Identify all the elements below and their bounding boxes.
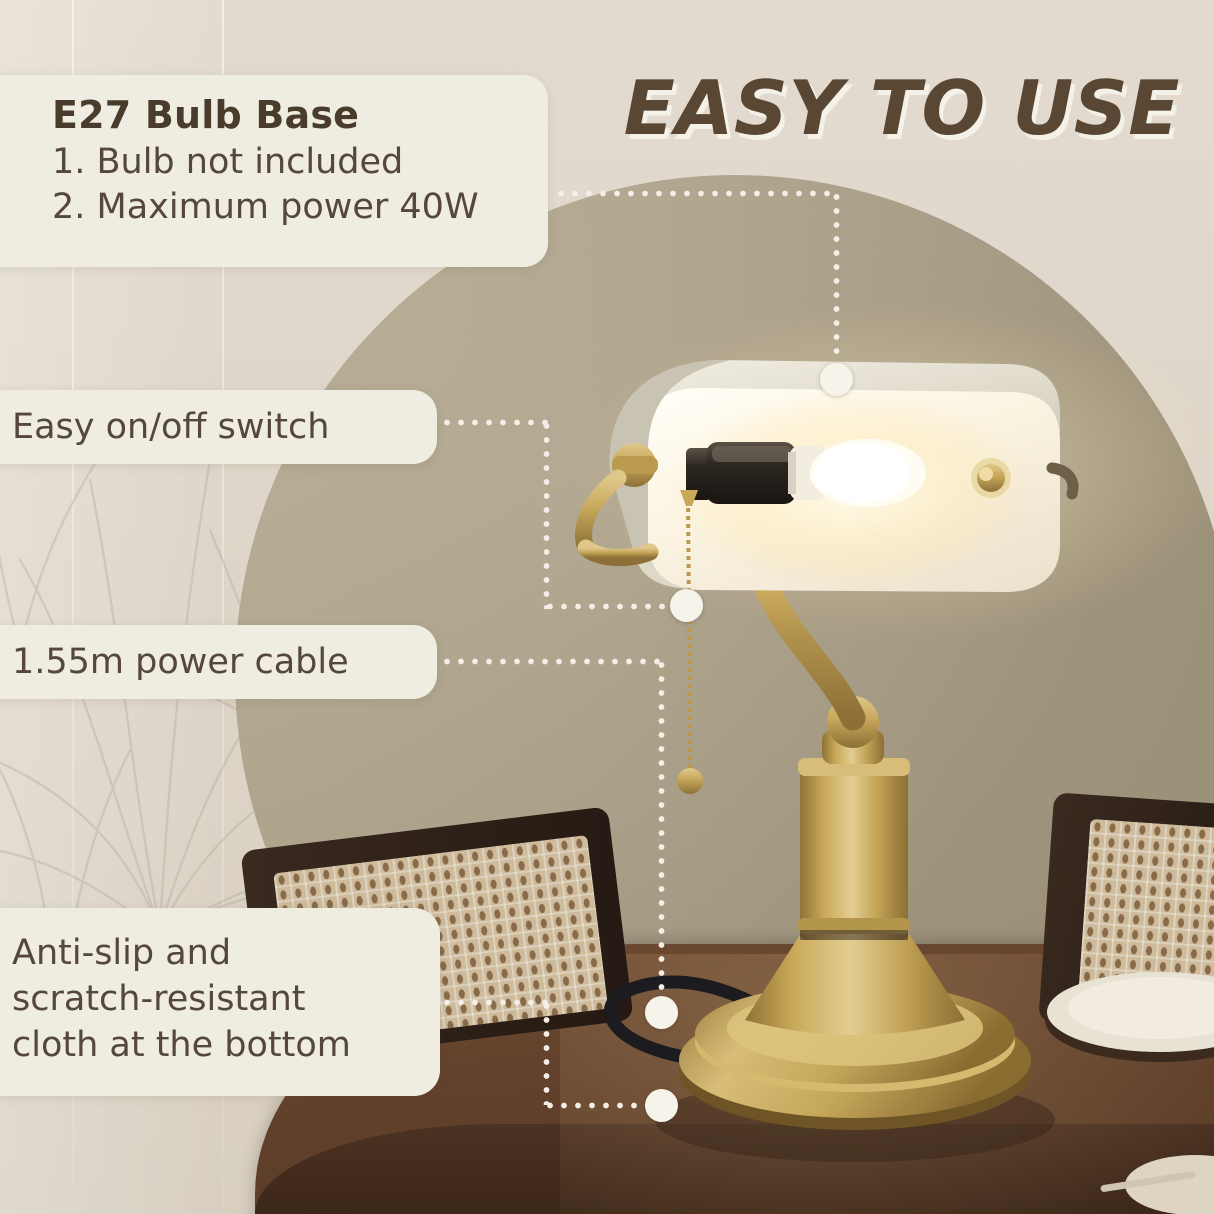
leader-bulb-horizontal	[554, 190, 838, 197]
leader-switch-vertical	[543, 419, 550, 609]
infographic-canvas: E27 Bulb Base 1. Bulb not included 2. Ma…	[0, 0, 1214, 1214]
callout-cable: 1.55m power cable	[0, 625, 437, 699]
connector-dot-icon	[645, 1089, 678, 1122]
leader-switch-horizontal-2	[543, 603, 683, 610]
connector-dot-icon	[645, 996, 678, 1029]
leader-cable-horizontal	[440, 658, 664, 665]
plate-stack	[1040, 950, 1214, 1100]
leader-bulb-vertical	[833, 190, 840, 380]
callout-cable-label: 1.55m power cable	[12, 642, 349, 682]
callout-anti-slip-line2: scratch-resistant	[12, 976, 440, 1022]
callout-switch: Easy on/off switch	[0, 390, 437, 464]
leader-cable-vertical	[658, 658, 665, 1008]
page-title: EASY TO USE	[624, 64, 1180, 152]
callout-bulb-base-title: E27 Bulb Base	[52, 91, 548, 140]
leader-switch-horizontal-1	[440, 419, 550, 426]
callout-anti-slip: Anti-slip and scratch-resistant cloth at…	[0, 908, 440, 1096]
leader-cloth-horizontal-1	[440, 999, 550, 1006]
leader-cloth-vertical	[543, 999, 550, 1105]
connector-dot-icon	[820, 363, 853, 396]
callout-bulb-base-line1: 1. Bulb not included	[52, 140, 548, 186]
callout-bulb-base-line2: 2. Maximum power 40W	[52, 185, 548, 231]
callout-bulb-base: E27 Bulb Base 1. Bulb not included 2. Ma…	[0, 75, 548, 267]
callout-anti-slip-line1: Anti-slip and	[12, 930, 440, 976]
callout-anti-slip-line3: cloth at the bottom	[12, 1022, 440, 1068]
plate-and-knife	[1100, 1140, 1214, 1214]
callout-switch-label: Easy on/off switch	[12, 407, 329, 447]
connector-dot-icon	[670, 589, 703, 622]
